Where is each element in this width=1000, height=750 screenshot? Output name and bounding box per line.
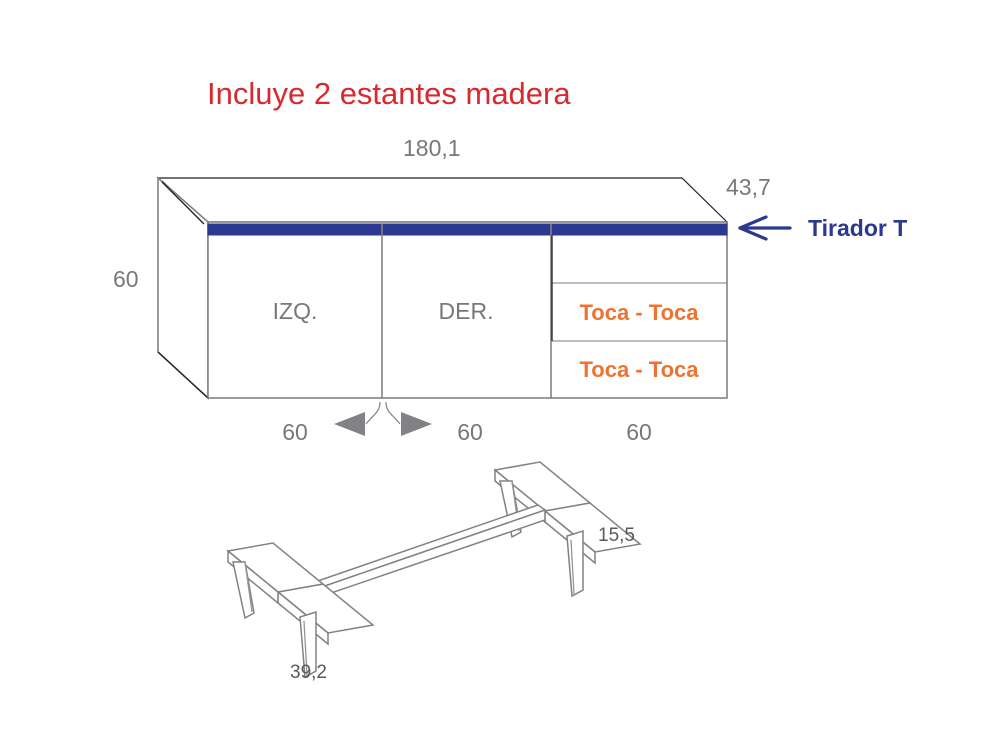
drawer-label-1: Toca - Toca — [580, 300, 700, 325]
cabinet-top-panel — [158, 178, 727, 222]
rear-right-leg — [567, 531, 583, 596]
tirador-arrow-icon — [740, 217, 790, 239]
dimension-depth-label: 43,7 — [726, 174, 771, 200]
compartment-width-label-1: 60 — [282, 419, 308, 445]
base-frame-drawing — [228, 462, 640, 677]
compartment-label-izq: IZQ. — [273, 298, 318, 324]
drawing-svg: Incluye 2 estantes madera 180,1 IZQ. DER… — [0, 0, 1000, 750]
base-height-label: 15,5 — [598, 525, 635, 546]
page-title: Incluye 2 estantes madera — [207, 76, 571, 111]
compartment-width-label-3: 60 — [626, 419, 652, 445]
drawer-label-2: Toca - Toca — [580, 357, 700, 382]
tirador-label: Tirador T — [808, 215, 907, 241]
cabinet-handle-strip[interactable] — [208, 224, 727, 235]
base-depth-label: 39,2 — [290, 662, 327, 683]
compartment-width-label-2: 60 — [457, 419, 483, 445]
door-swing-indicator — [334, 402, 432, 436]
compartment-label-der: DER. — [439, 298, 494, 324]
technical-drawing-canvas: Incluye 2 estantes madera 180,1 IZQ. DER… — [0, 0, 1000, 750]
dimension-width-label: 180,1 — [403, 135, 461, 161]
dimension-height-label: 60 — [113, 266, 139, 292]
